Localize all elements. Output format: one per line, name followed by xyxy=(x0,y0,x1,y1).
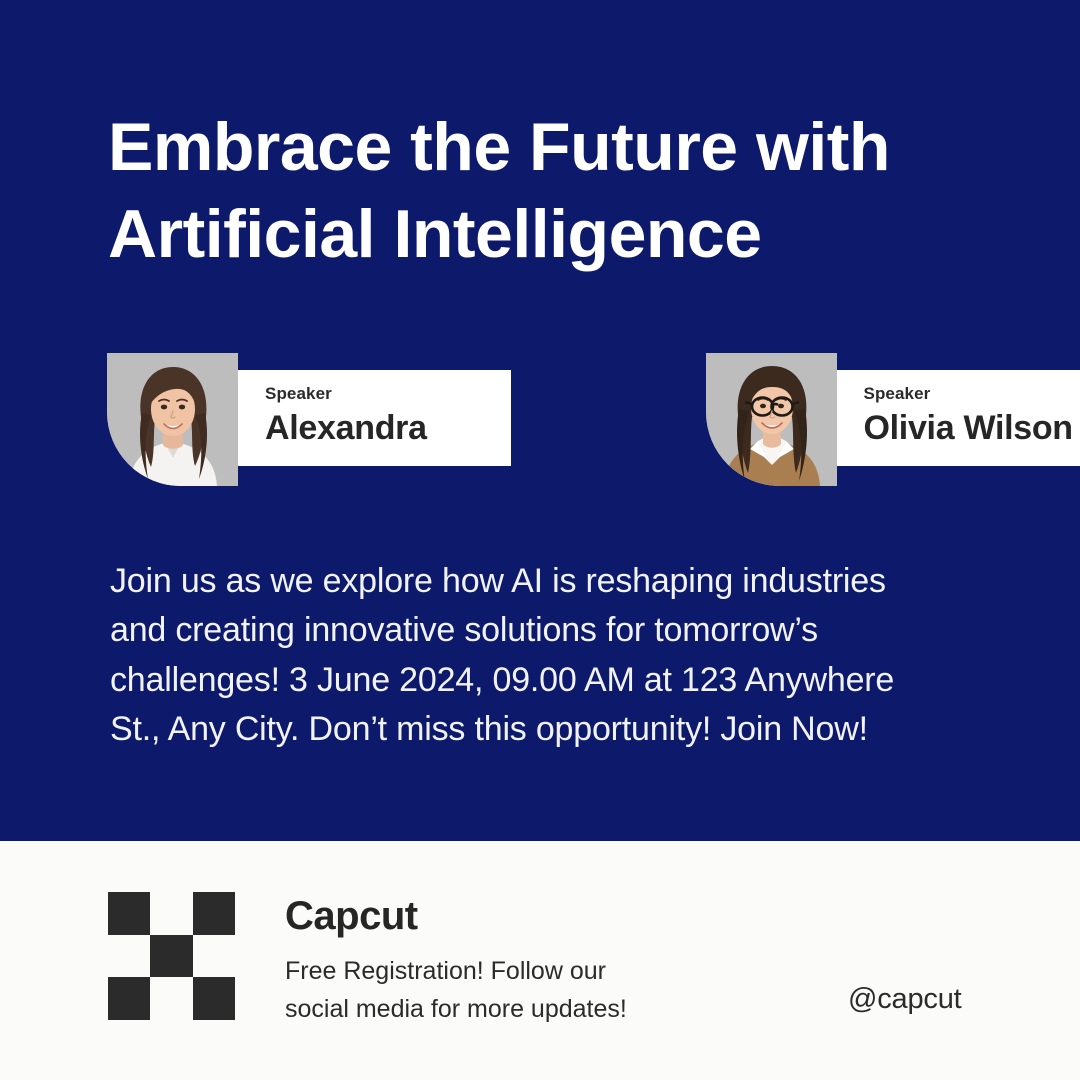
speaker-card-olivia-wilson[interactable]: Speaker Olivia Wilson xyxy=(706,353,974,488)
speaker-role-label: Speaker xyxy=(864,384,1080,404)
footer-tagline-line-1: Free Registration! Follow our xyxy=(285,953,627,991)
brand-block: Capcut Free Registration! Follow our soc… xyxy=(285,893,627,1028)
logo-cell xyxy=(193,935,235,978)
checkerboard-logo-icon xyxy=(108,892,235,1020)
body-line-2: and creating innovative solutions for to… xyxy=(110,606,990,655)
body-line-4: St., Any City. Don’t miss this opportuni… xyxy=(110,705,990,754)
page-title-line-2: Artificial Intelligence xyxy=(108,191,1008,278)
social-handle[interactable]: @capcut xyxy=(848,983,961,1016)
speaker-role-label: Speaker xyxy=(265,384,511,404)
avatar xyxy=(107,353,238,486)
footer-tagline: Free Registration! Follow our social med… xyxy=(285,953,627,1028)
logo-cell xyxy=(150,892,192,935)
speaker-name: Olivia Wilson xyxy=(864,408,1080,449)
logo-cell xyxy=(150,977,192,1020)
logo-cell xyxy=(108,977,150,1020)
body-description: Join us as we explore how AI is reshapin… xyxy=(110,557,990,754)
speaker-name-card: Speaker Olivia Wilson xyxy=(836,370,1080,466)
speaker-name: Alexandra xyxy=(265,408,511,449)
logo-cell xyxy=(193,977,235,1020)
poster-canvas: Embrace the Future with Artificial Intel… xyxy=(0,0,1080,1080)
body-line-3: challenges! 3 June 2024, 09.00 AM at 123… xyxy=(110,656,990,705)
logo-cell xyxy=(193,892,235,935)
logo-cell xyxy=(108,935,150,978)
body-line-1: Join us as we explore how AI is reshapin… xyxy=(110,557,990,606)
speaker-list: Speaker Alexandra xyxy=(107,353,973,488)
page-title-line-1: Embrace the Future with xyxy=(108,104,1008,191)
logo-cell xyxy=(150,935,192,978)
hero-section: Embrace the Future with Artificial Intel… xyxy=(0,0,1080,841)
footer-section: Capcut Free Registration! Follow our soc… xyxy=(0,841,1080,1080)
brand-name: Capcut xyxy=(285,893,627,939)
speaker-card-alexandra[interactable]: Speaker Alexandra xyxy=(107,353,375,488)
footer-tagline-line-2: social media for more updates! xyxy=(285,991,627,1029)
speaker-name-card: Speaker Alexandra xyxy=(237,370,511,466)
page-title: Embrace the Future with Artificial Intel… xyxy=(108,104,1008,278)
avatar xyxy=(706,353,837,486)
logo-cell xyxy=(108,892,150,935)
